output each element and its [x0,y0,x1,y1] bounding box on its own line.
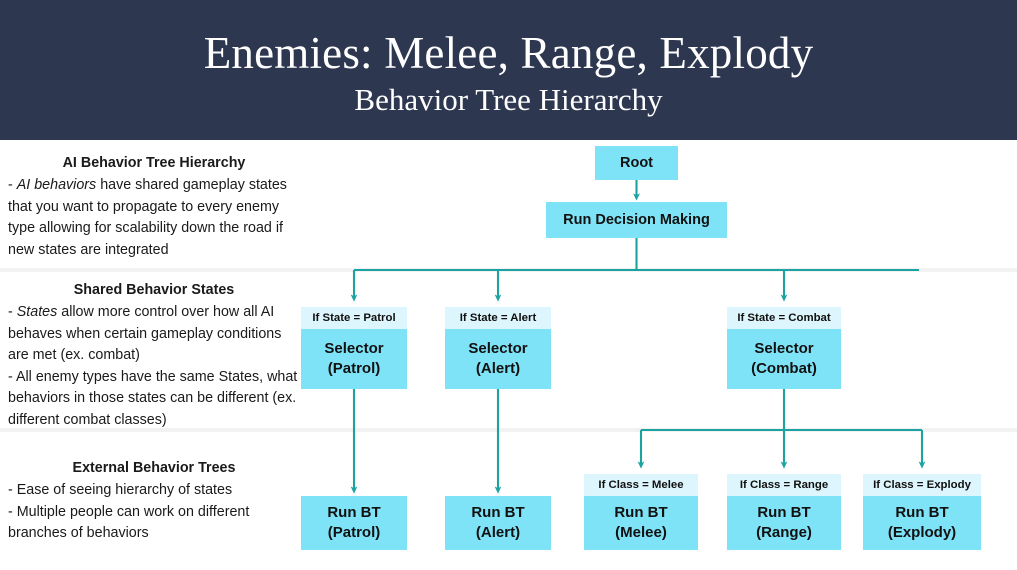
header-banner: Enemies: Melee, Range, Explody Behavior … [0,0,1017,140]
section-title: External Behavior Trees [8,457,300,479]
node-label: Root [620,154,653,173]
node-condition-label: If Class = Explody [863,474,981,496]
node-condition-label: If Class = Range [727,474,841,496]
node-label-line1: Selector [468,339,527,359]
node-label-line2: (Alert) [476,523,520,543]
node-body: Selector (Patrol) [301,329,407,389]
emphasis-text: AI behaviors [17,177,96,193]
node-body: Selector (Combat) [727,329,841,389]
node-selector-patrol[interactable]: If State = Patrol Selector (Patrol) [301,307,407,389]
section-bullet: - Ease of seeing hierarchy of states [8,480,300,502]
section-bullet: - Multiple people can work on different … [8,502,300,545]
node-run-bt-patrol[interactable]: Run BT (Patrol) [301,496,407,550]
node-label-line2: (Combat) [751,359,817,379]
node-label-line2: (Patrol) [328,523,381,543]
page-subtitle: Behavior Tree Hierarchy [354,81,662,119]
node-run-bt-range[interactable]: If Class = Range Run BT (Range) [727,474,841,550]
node-label-line2: (Melee) [615,523,667,543]
node-label-line2: (Alert) [476,359,520,379]
node-label-line2: (Range) [756,523,812,543]
section-title: Shared Behavior States [8,279,300,301]
node-run-decision-making[interactable]: Run Decision Making [546,202,727,238]
section-divider-1 [0,268,1017,272]
node-selector-alert[interactable]: If State = Alert Selector (Alert) [445,307,551,389]
section-bullet: - All enemy types have the same States, … [8,367,300,432]
section-title: AI Behavior Tree Hierarchy [8,152,300,174]
section-bullet: - States allow more control over how all… [8,302,300,367]
node-label: Run Decision Making [563,211,710,230]
node-run-bt-alert[interactable]: Run BT (Alert) [445,496,551,550]
node-body: Run BT (Range) [727,496,841,550]
section-ai-behavior-tree-hierarchy: AI Behavior Tree Hierarchy - AI behavior… [8,152,300,261]
node-body: Selector (Alert) [445,329,551,389]
node-condition-label: If Class = Melee [584,474,698,496]
node-run-bt-explody[interactable]: If Class = Explody Run BT (Explody) [863,474,981,550]
node-label-line1: Selector [324,339,383,359]
emphasis-text: States [17,304,58,320]
node-label-line1: Selector [754,339,813,359]
node-label-line1: Run BT [614,503,667,523]
section-bullet: - AI behaviors have shared gameplay stat… [8,175,300,261]
node-selector-combat[interactable]: If State = Combat Selector (Combat) [727,307,841,389]
node-label-line2: (Patrol) [328,359,381,379]
section-shared-behavior-states: Shared Behavior States - States allow mo… [8,279,300,431]
node-label-line1: Run BT [895,503,948,523]
node-condition-label: If State = Patrol [301,307,407,329]
node-label-line1: Run BT [757,503,810,523]
node-condition-label: If State = Combat [727,307,841,329]
node-label-line2: (Explody) [888,523,956,543]
page-title: Enemies: Melee, Range, Explody [204,27,814,79]
node-body: Run BT (Melee) [584,496,698,550]
diagram-canvas: AI Behavior Tree Hierarchy - AI behavior… [0,140,1017,570]
node-condition-label: If State = Alert [445,307,551,329]
node-label-line1: Run BT [327,503,380,523]
node-run-bt-melee[interactable]: If Class = Melee Run BT (Melee) [584,474,698,550]
node-label-line1: Run BT [471,503,524,523]
section-external-behavior-trees: External Behavior Trees - Ease of seeing… [8,457,300,545]
node-root[interactable]: Root [595,146,678,180]
node-body: Run BT (Explody) [863,496,981,550]
